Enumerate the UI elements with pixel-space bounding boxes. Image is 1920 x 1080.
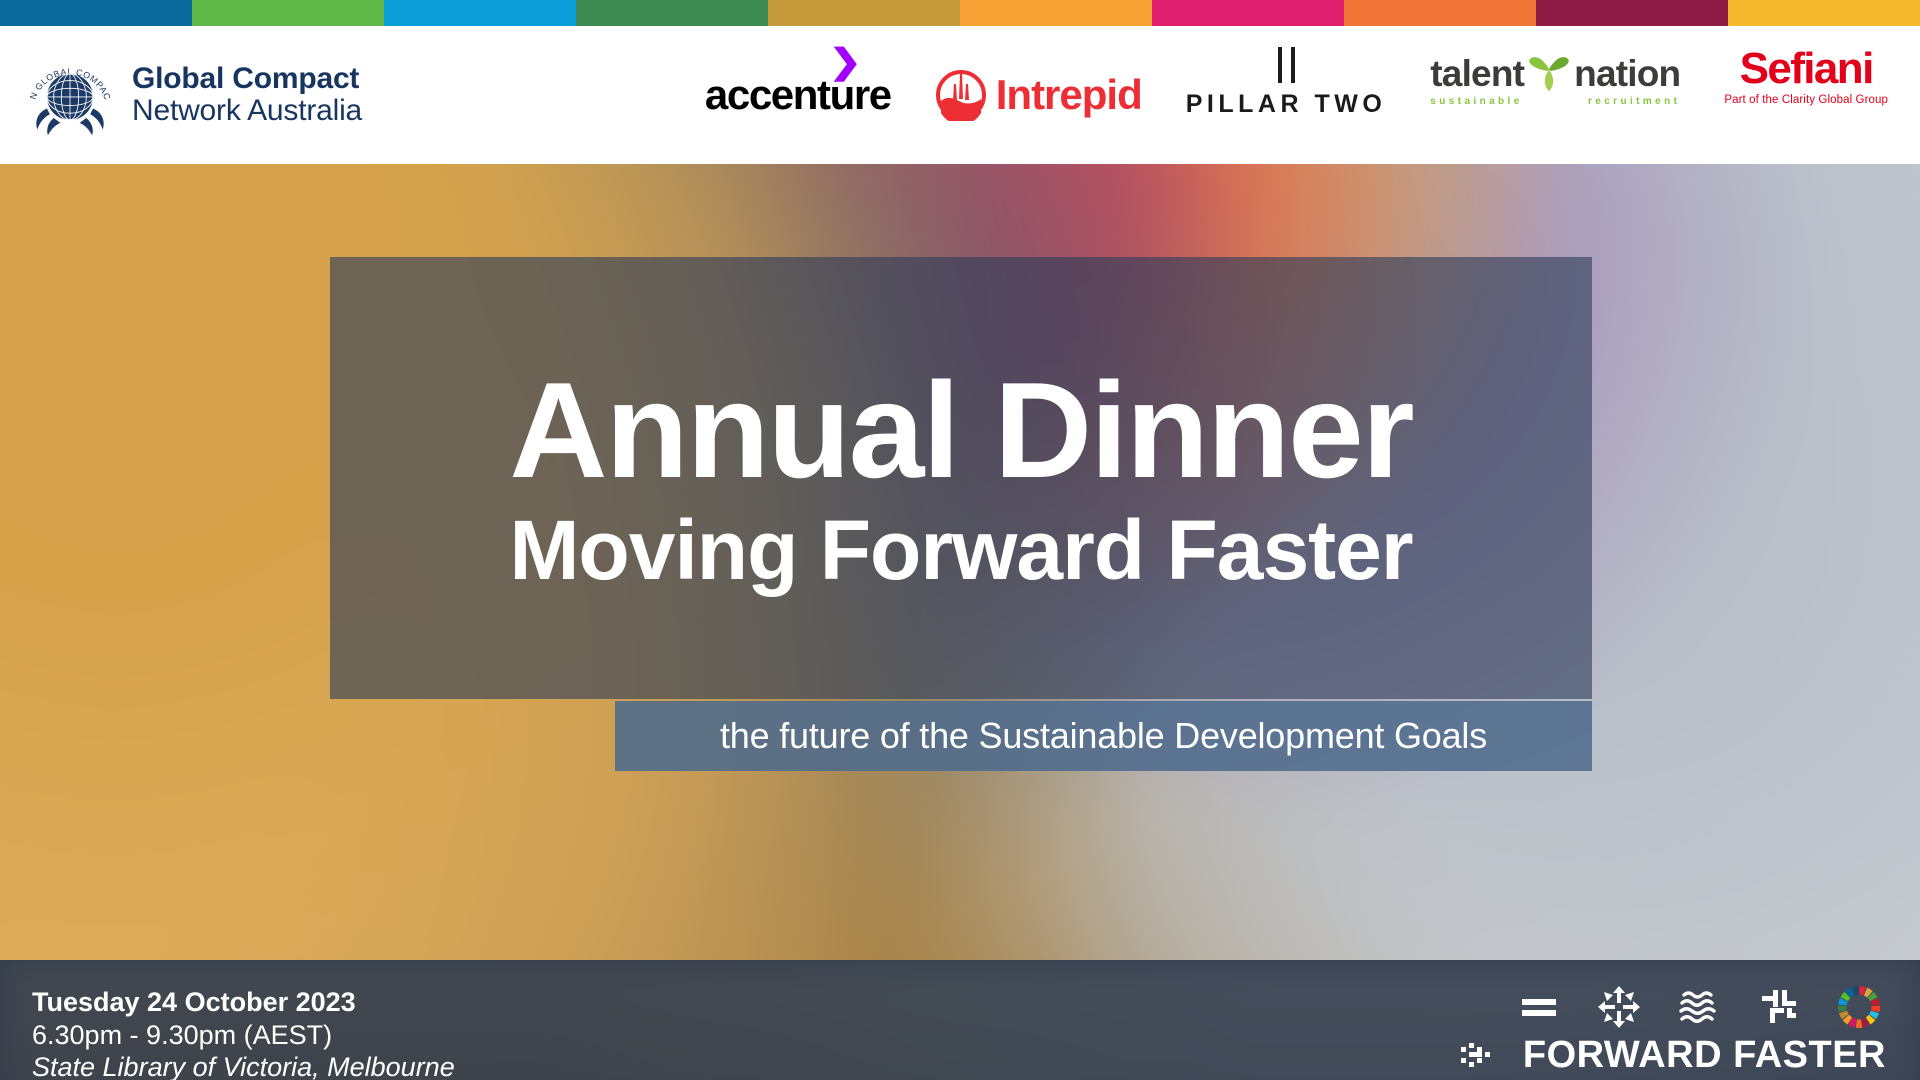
pillar-two-wordmark: PILLAR TWO [1186,90,1387,119]
talent-nation-word1: talent [1430,53,1524,95]
converging-arrows-icon [1596,984,1642,1030]
sdg-strip-segment-9 [1536,0,1728,26]
stepped-bracket-icon [1756,984,1802,1030]
event-details: Tuesday 24 October 2023 6.30pm - 9.30pm … [32,982,455,1080]
sdg-colour-strip [0,0,1920,26]
sponsor-logo-talent-nation: talent nation sustainable recruitment [1430,47,1680,143]
event-date: Tuesday 24 October 2023 [32,986,455,1019]
un-global-compact-emblem-icon: UN GLOBAL COMPACT [22,47,118,143]
sdg-strip-segment-10 [1728,0,1920,26]
talent-nation-tagline: sustainable recruitment [1430,96,1680,107]
sdg-strip-segment-5 [768,0,960,26]
talent-nation-word2: nation [1574,53,1680,95]
hero-title-main: Annual Dinner [364,362,1558,498]
forward-faster-dots-icon [1461,1040,1509,1070]
sdg-strip-segment-4 [576,0,768,26]
sdg-strip-segment-2 [192,0,384,26]
sponsor-logo-pillar-two: PILLAR TWO [1186,47,1387,143]
event-venue: State Library of Victoria, Melbourne [32,1051,455,1080]
forward-faster-wordmark: FORWARD FASTER [1523,1034,1886,1077]
hero-title-overlay: Annual Dinner Moving Forward Faster [330,257,1592,699]
forward-faster-icon-row [1516,984,1886,1030]
forward-faster-lockup: FORWARD FASTER [1461,984,1886,1080]
pillar-two-bars-icon [1278,47,1295,83]
hero-strapline-text: the future of the Sustainable Developmen… [720,715,1487,757]
hero-section: Annual Dinner Moving Forward Faster the … [0,164,1920,960]
hero-title-sub: Moving Forward Faster [364,506,1558,594]
accenture-wordmark: accenture [705,71,891,119]
event-time: 6.30pm - 9.30pm (AEST) [32,1019,455,1052]
sdg-strip-segment-7 [1152,0,1344,26]
sdg-strip-segment-1 [0,0,192,26]
gcna-wordmark: Global Compact Network Australia [132,63,362,127]
talent-nation-tag1: sustainable [1430,96,1522,107]
sponsor-logo-accenture: accenture ❯ [705,47,891,143]
header-logo-bar: UN GLOBAL COMPACT [0,26,1920,164]
sefiani-wordmark: Sefiani [1740,47,1873,91]
gcna-title-line2: Network Australia [132,95,362,127]
gcna-title-line1: Global Compact [132,63,362,95]
global-compact-network-australia-logo: UN GLOBAL COMPACT [22,47,362,143]
forward-faster-wordmark-row: FORWARD FASTER [1461,1034,1886,1077]
sdg-strip-segment-6 [960,0,1152,26]
sponsor-logo-sefiani: Sefiani Part of the Clarity Global Group [1724,47,1888,143]
hero-strapline-bar: the future of the Sustainable Developmen… [615,701,1592,771]
footer-bar: Tuesday 24 October 2023 6.30pm - 9.30pm … [0,960,1920,1080]
event-banner: UN GLOBAL COMPACT [0,0,1920,1080]
waves-icon [1676,984,1722,1030]
talent-nation-tag2: recruitment [1588,96,1680,107]
accenture-arrow-icon: ❯ [829,45,862,79]
sdg-strip-segment-3 [384,0,576,26]
sponsor-logo-row: accenture ❯ Intrepid [362,47,1894,143]
intrepid-wordmark: Intrepid [996,71,1142,119]
sefiani-tagline: Part of the Clarity Global Group [1724,94,1888,106]
sdg-strip-segment-8 [1344,0,1536,26]
talent-nation-row: talent nation [1430,47,1680,95]
intrepid-mark-icon [935,69,987,121]
sdg-colour-wheel-icon [1836,984,1882,1030]
sponsor-logo-intrepid: Intrepid [935,47,1142,143]
talent-nation-leaf-icon [1526,47,1572,93]
equals-icon [1516,984,1562,1030]
